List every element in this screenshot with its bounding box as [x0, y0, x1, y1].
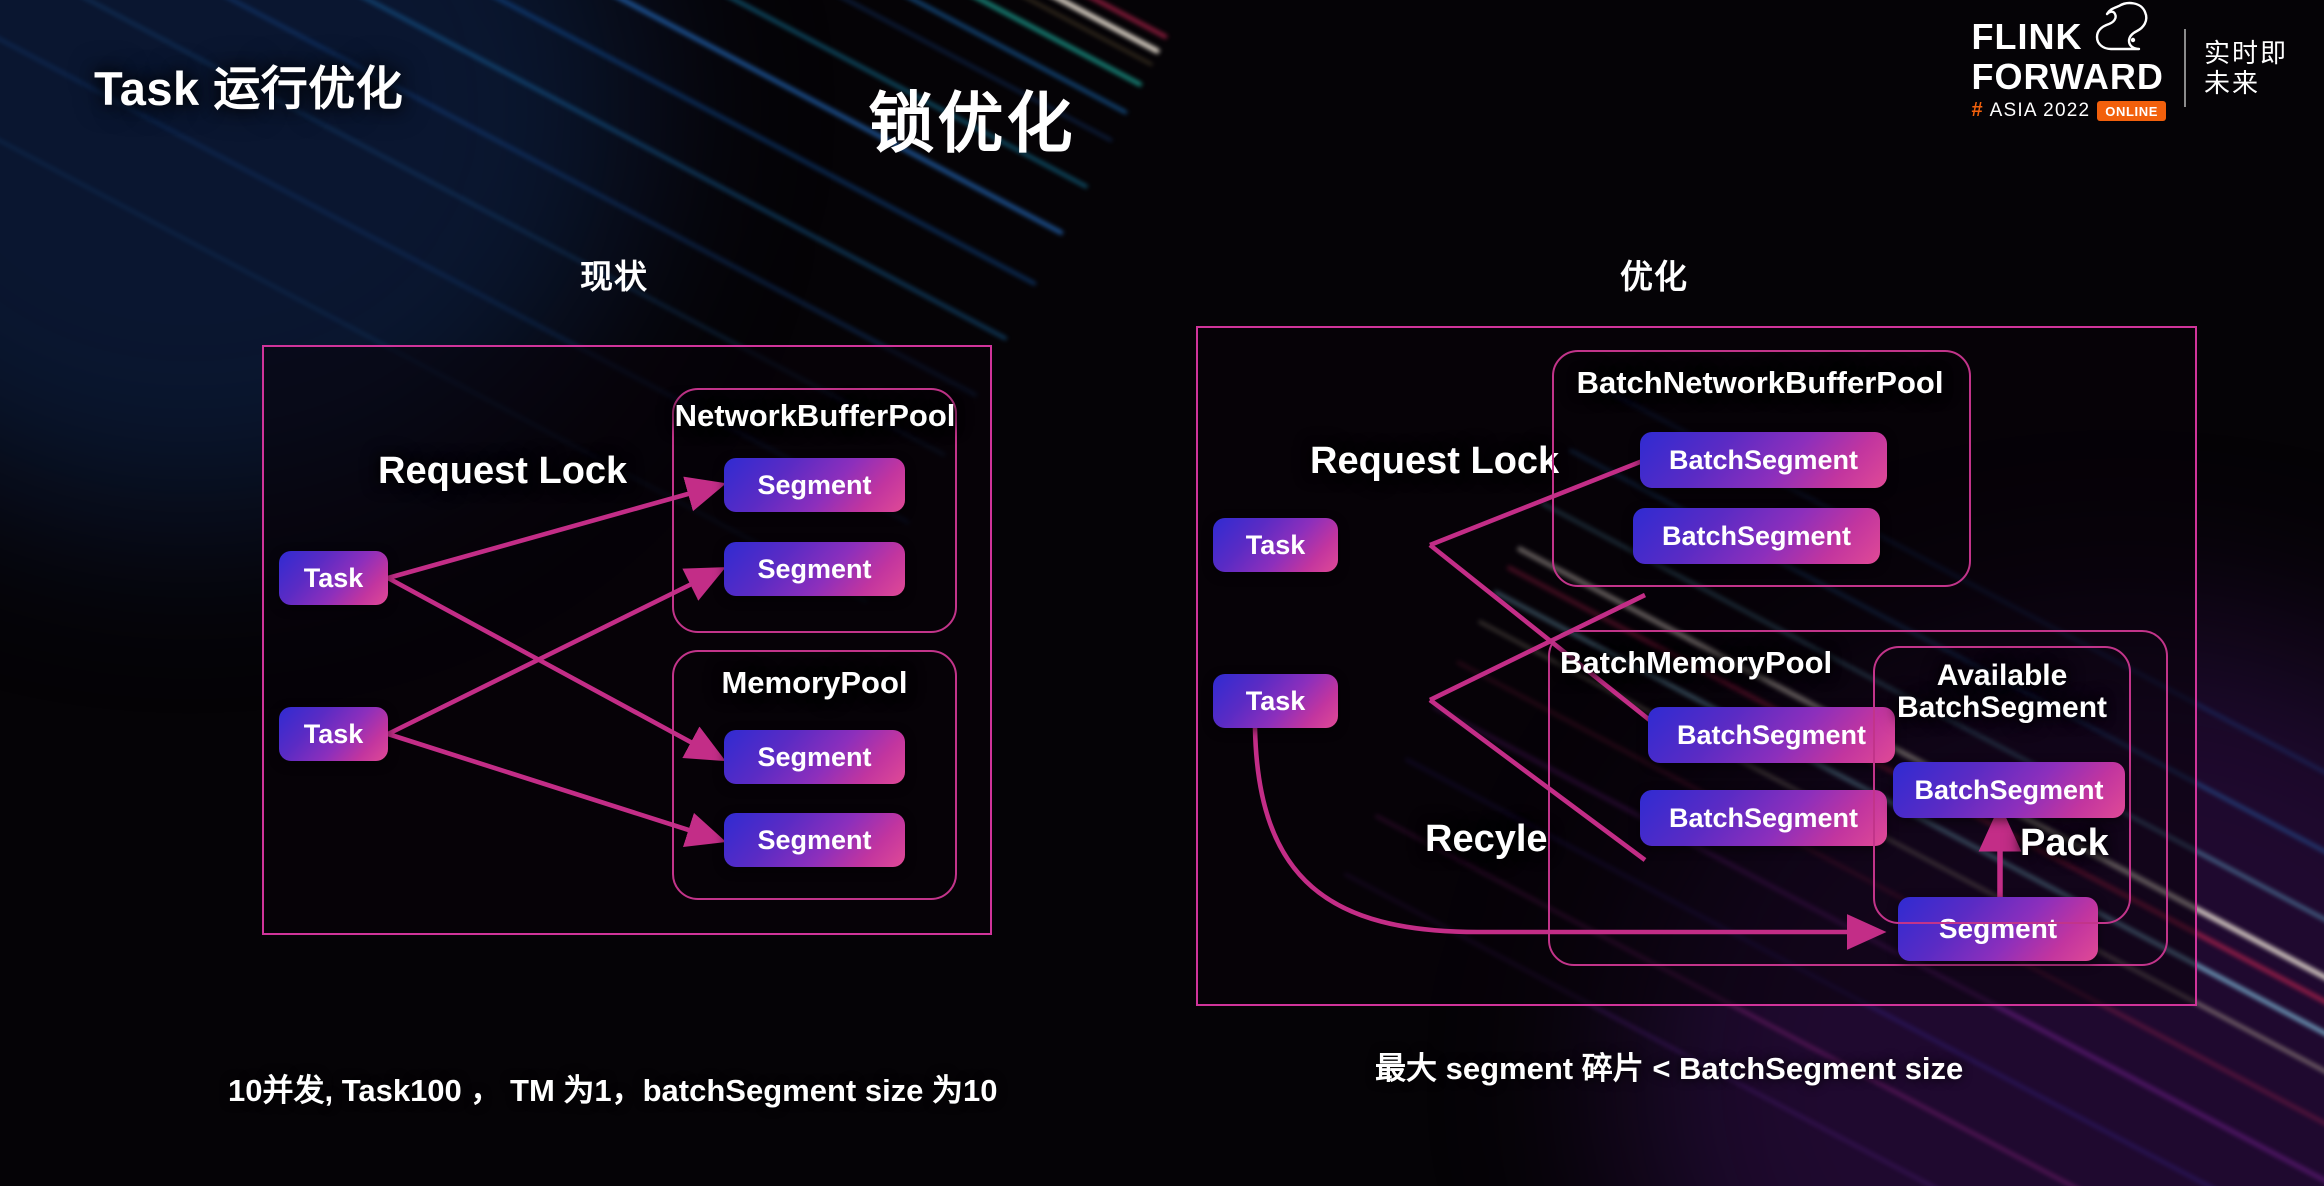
flink-forward-logo: FLINK FORWARD # ASIA 2022 ONLINE 实时即 未来 — [1972, 14, 2288, 122]
batch-segment-box-bmp-2[interactable]: BatchSegment — [1640, 790, 1887, 846]
available-label-line2: BatchSegment — [1897, 691, 2107, 724]
pool-label-memory-pool: MemoryPool — [672, 665, 957, 701]
online-badge: ONLINE — [2097, 101, 2166, 121]
available-batch-segment-box[interactable]: BatchSegment — [1893, 762, 2125, 818]
segment-box-nbp-1[interactable]: Segment — [724, 458, 905, 512]
pool-label-batch-network-buffer-pool: BatchNetworkBufferPool — [1540, 365, 1980, 401]
squirrel-icon — [2089, 0, 2153, 59]
footnote-current: 10并发, Task100 ， TM 为1，batchSegment size … — [228, 988, 998, 1186]
hash-icon: # — [1972, 99, 1983, 122]
segment-box-mp-2[interactable]: Segment — [724, 813, 905, 867]
recycle-label: Recyle — [1425, 818, 1548, 861]
pool-label-network-buffer-pool: NetworkBufferPool — [640, 398, 990, 434]
logo-wordmark: FLINK FORWARD # ASIA 2022 ONLINE — [1972, 14, 2166, 122]
pool-label-available-batch-segment: Available BatchSegment — [1873, 660, 2131, 725]
logo-cn-line2: 未来 — [2204, 68, 2288, 98]
task-box-optimized-2[interactable]: Task — [1213, 674, 1338, 728]
pool-label-batch-memory-pool: BatchMemoryPool — [1560, 645, 1830, 681]
logo-event-name: ASIA 2022 — [1990, 100, 2091, 122]
logo-event-row: # ASIA 2022 ONLINE — [1972, 99, 2166, 122]
footnote-optimized: 最大 segment 碎片 < BatchSegment size — [1375, 1043, 1963, 1088]
task-box-optimized-1[interactable]: Task — [1213, 518, 1338, 572]
slide-title: 锁优化 — [0, 70, 2134, 166]
request-lock-label-optimized: Request Lock — [1310, 440, 1559, 483]
request-lock-label-current: Request Lock — [378, 450, 627, 493]
logo-line1: FLINK — [1972, 19, 2083, 54]
task-box-current-1[interactable]: Task — [279, 551, 388, 605]
segment-box-mp-1[interactable]: Segment — [724, 730, 905, 784]
panel-heading-current: 现状 — [580, 250, 648, 298]
logo-line2: FORWARD — [1972, 59, 2164, 94]
batch-segment-box-bnbp-1[interactable]: BatchSegment — [1640, 432, 1887, 488]
logo-chinese-tagline: 实时即 未来 — [2204, 38, 2288, 98]
logo-cn-line1: 实时即 — [2204, 38, 2288, 68]
batch-segment-box-bnbp-2[interactable]: BatchSegment — [1633, 508, 1880, 564]
panel-heading-optimized: 优化 — [1620, 250, 1688, 298]
footnote-current-line1: 10并发, Task100 ， TM 为1，batchSegment size … — [228, 1070, 998, 1111]
slide-root: Task 运行优化 锁优化 FLINK FORWARD # ASIA 2022 … — [0, 0, 2324, 1186]
segment-box-nbp-2[interactable]: Segment — [724, 542, 905, 596]
batch-segment-box-bmp-1[interactable]: BatchSegment — [1648, 707, 1895, 763]
logo-line1-row: FLINK — [1972, 14, 2153, 59]
logo-divider — [2184, 29, 2186, 107]
available-label-line1: Available — [1937, 659, 2068, 692]
task-box-current-2[interactable]: Task — [279, 707, 388, 761]
